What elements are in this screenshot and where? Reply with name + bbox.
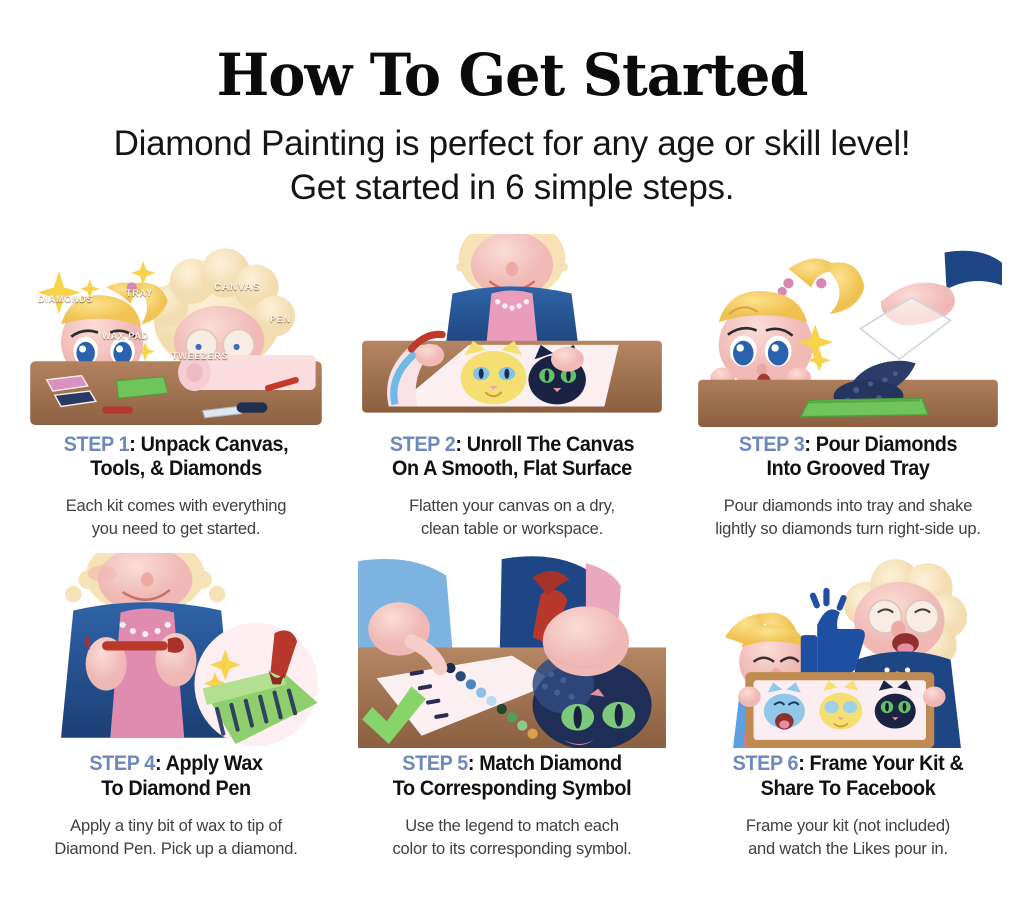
frame-kit-art [694,553,1002,748]
infographic-page: { "header": { "title": "How To Get Start… [0,0,1024,922]
supply-label-pen: PEN [270,314,291,324]
magnified-inset [194,623,317,746]
step-2-separator: : [455,432,461,456]
match-symbol-art [358,553,666,748]
step-4-desc-line2: Diamond Pen. Pick up a diamond. [54,840,297,858]
step-2-illustration [358,234,666,424]
right-hand [551,346,584,371]
step-3-illustration [694,234,1002,424]
step-4-separator: : [155,751,161,775]
step-6-desc-line2: and watch the Likes pour in. [748,840,948,858]
step-1-title-line1: Unpack Canvas, [141,432,289,456]
step-1-title-line2: Tools, & Diamonds [90,456,261,480]
unroll-canvas-art [358,234,666,429]
supply-label-tray: TRAY [126,288,153,298]
step-4-title-line1: Apply Wax [166,751,263,775]
step-2-number: STEP 2 [390,432,456,456]
step-2-title-line1: Unroll The Canvas [467,432,634,456]
step-3-desc-line1: Pour diamonds into tray and shake [724,497,972,515]
step-6-desc-line1: Frame your kit (not included) [746,817,950,835]
step-3-separator: : [804,432,810,456]
sleeve-shape [944,250,1001,289]
step-6-separator: : [798,751,804,775]
tweezers-shape [237,402,268,412]
step-6-description: Frame your kit (not included) and watch … [680,815,1016,861]
step-1-title: STEP 1: Unpack Canvas, Tools, & Diamonds [21,432,330,482]
step-6-title-line2: Share To Facebook [761,776,936,800]
step-1-desc-line2: you need to get started. [92,520,261,538]
step-1-number: STEP 1 [64,432,130,456]
step-6-illustration [694,553,1002,743]
page-title: How To Get Started [20,46,1003,104]
page-subtitle: Diamond Painting is perfect for any age … [82,122,942,210]
step-2-desc-line1: Flatten your canvas on a dry, [409,497,615,515]
supply-label-diamonds: DIAMONDS [38,294,93,304]
unpack-supplies-art [22,234,330,429]
step-2-title-line2: On A Smooth, Flat Surface [392,456,632,480]
step-5-desc-line2: color to its corresponding symbol. [393,840,632,858]
step-4-illustration [22,553,330,743]
steps-grid: DIAMONDS TRAY CANVAS WAX PAD TWEEZERS PE… [0,234,1024,861]
supply-label-wax-pad: WAX PAD [102,331,149,341]
supply-label-canvas: CANVAS [214,282,260,293]
step-5-title-line1: Match Diamond [479,751,621,775]
framed-painting [745,672,934,748]
step-5-separator: : [468,751,474,775]
step-card-3: STEP 3: Pour Diamonds Into Grooved Tray … [680,234,1016,541]
step-3-title-line1: Pour Diamonds [816,432,957,456]
step-4-title: STEP 4: Apply Wax To Diamond Pen [21,751,330,801]
step-6-title-line1: Frame Your Kit & [810,751,964,775]
step-4-title-line2: To Diamond Pen [101,776,250,800]
step-card-5: STEP 5: Match Diamond To Corresponding S… [344,553,680,860]
step-2-title: STEP 2: Unroll The Canvas On A Smooth, F… [357,432,666,482]
step-5-description: Use the legend to match each color to it… [344,815,680,861]
left-hand [415,343,444,366]
step-card-4: STEP 4: Apply Wax To Diamond Pen Apply a… [8,553,344,860]
step-6-number: STEP 6 [733,751,799,775]
step-3-description: Pour diamonds into tray and shake lightl… [680,495,1016,541]
step-5-number: STEP 5 [402,751,468,775]
step-2-description: Flatten your canvas on a dry, clean tabl… [344,495,680,541]
step-1-description: Each kit comes with everything you need … [8,495,344,541]
step-1-illustration: DIAMONDS TRAY CANVAS WAX PAD TWEEZERS PE… [22,234,330,424]
step-5-desc-line1: Use the legend to match each [405,817,619,835]
step-card-2: STEP 2: Unroll The Canvas On A Smooth, F… [344,234,680,541]
apply-wax-art [22,553,330,748]
step-5-title: STEP 5: Match Diamond To Corresponding S… [357,751,666,801]
step-1-separator: : [129,432,135,456]
step-3-title-line2: Into Grooved Tray [766,456,929,480]
step-3-number: STEP 3 [739,432,805,456]
supply-label-tweezers: TWEEZERS [172,351,228,361]
step-4-description: Apply a tiny bit of wax to tip of Diamon… [8,815,344,861]
step-3-desc-line2: lightly so diamonds turn right-side up. [715,520,981,538]
pour-diamonds-art [694,234,1002,429]
wax-pad-shape [102,406,133,413]
pen-hand [543,606,629,676]
step-5-title-line2: To Corresponding Symbol [393,776,631,800]
step-4-desc-line1: Apply a tiny bit of wax to tip of [70,817,282,835]
step-card-1: DIAMONDS TRAY CANVAS WAX PAD TWEEZERS PE… [8,234,344,541]
step-6-title: STEP 6: Frame Your Kit & Share To Facebo… [693,751,1002,801]
step-3-title: STEP 3: Pour Diamonds Into Grooved Tray [693,432,1002,482]
step-4-number: STEP 4 [89,751,155,775]
step-5-illustration [358,553,666,743]
step-card-6: STEP 6: Frame Your Kit & Share To Facebo… [680,553,1016,860]
page-header: How To Get Started Diamond Painting is p… [0,0,1024,210]
step-2-desc-line2: clean table or workspace. [421,520,603,538]
step-1-desc-line1: Each kit comes with everything [66,497,287,515]
